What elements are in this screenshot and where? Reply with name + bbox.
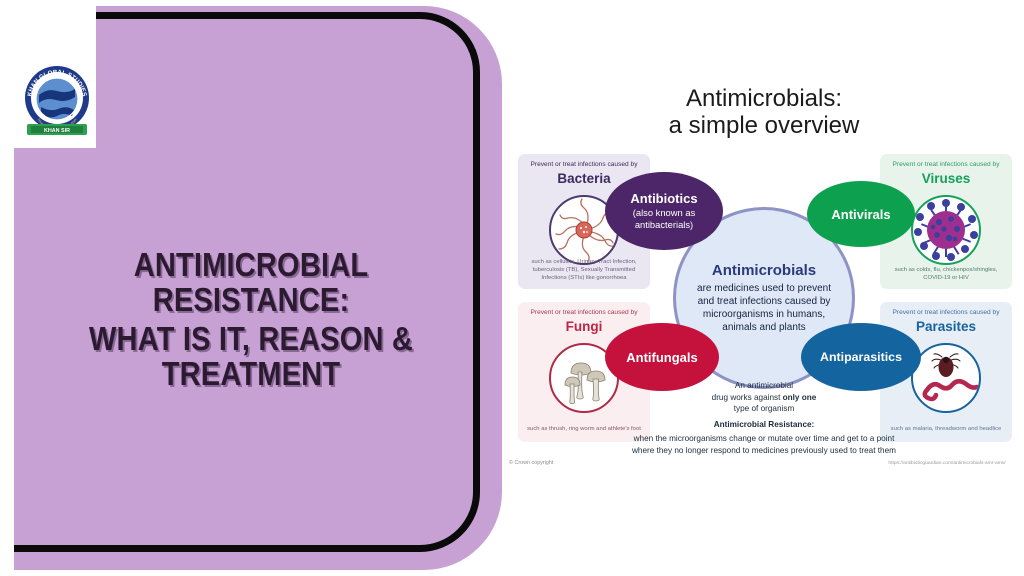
center-body: are medicines used to prevent and treat … bbox=[690, 282, 838, 335]
tick-and-worm-icon bbox=[913, 345, 979, 411]
antifungals-label: Antifungals bbox=[626, 350, 698, 365]
page-title-line-1: ANTIMICROBIAL RESISTANCE: bbox=[39, 248, 463, 318]
infographic-title: Antimicrobials: a simple overview bbox=[504, 85, 1024, 140]
panel-viruses-examples: such as colds, flu, chickenpox/shingles,… bbox=[884, 267, 1008, 283]
khan-global-studies-logo: KHAN GLOBAL STUDIES Your Global Learning… bbox=[19, 62, 95, 142]
drug-class-antibiotics[interactable]: Antibiotics (also known as antibacterial… bbox=[605, 172, 723, 250]
page-title: ANTIMICROBIAL RESISTANCE: WHAT IS IT, RE… bbox=[10, 248, 492, 392]
resistance-body: when the microorganisms change or mutate… bbox=[632, 433, 896, 456]
panel-viruses-organism: Viruses bbox=[880, 171, 1012, 187]
antiparasitics-label: Antiparasitics bbox=[820, 350, 902, 364]
antibiotics-label: Antibiotics bbox=[630, 192, 697, 206]
infographic-title-line-1: Antimicrobials: bbox=[504, 85, 1024, 112]
page-title-line-2: WHAT IS IT, REASON & TREATMENT bbox=[39, 322, 463, 392]
one-organism-note-b: drug works against bbox=[712, 393, 783, 402]
panel-bacteria-examples: such as cellulitis, Urinary Tract Infect… bbox=[522, 259, 646, 283]
left-title-panel: KHAN GLOBAL STUDIES Your Global Learning… bbox=[0, 0, 502, 576]
antimicrobials-infographic: Antimicrobials: a simple overview Preven… bbox=[504, 80, 1024, 480]
virus-illustration-circle bbox=[911, 195, 981, 265]
slide-canvas: KHAN GLOBAL STUDIES Your Global Learning… bbox=[0, 0, 1024, 576]
one-organism-note-bold: only one bbox=[783, 393, 817, 402]
one-organism-note-c: type of organism bbox=[734, 404, 795, 413]
panel-fungi-examples: such as thrush, ring worm and athlete's … bbox=[522, 426, 646, 434]
panel-fungi-lead: Prevent or treat infections caused by bbox=[518, 309, 650, 318]
virus-icon bbox=[913, 197, 979, 263]
center-heading: Antimicrobials bbox=[712, 262, 816, 279]
antibiotics-subtitle: (also known as antibacterials) bbox=[605, 207, 723, 230]
resistance-heading: Antimicrobial Resistance: bbox=[644, 420, 884, 429]
panel-viruses-lead: Prevent or treat infections caused by bbox=[880, 161, 1012, 170]
panel-parasites-examples: such as malaria, threadworm and headlice bbox=[884, 426, 1008, 434]
copyright-notice: © Crown copyright bbox=[509, 460, 553, 466]
panel-bacteria-lead: Prevent or treat infections caused by bbox=[518, 161, 650, 170]
one-organism-note-a: An antimicrobial bbox=[735, 381, 793, 390]
panel-parasites-lead: Prevent or treat infections caused by bbox=[880, 309, 1012, 318]
infographic-title-line-2: a simple overview bbox=[504, 112, 1024, 139]
parasite-illustration-circle bbox=[911, 343, 981, 413]
one-organism-note: An antimicrobial drug works against only… bbox=[679, 380, 849, 415]
source-url[interactable]: https://antibioticguardian.com/antimicro… bbox=[880, 461, 1014, 466]
antivirals-label: Antivirals bbox=[831, 207, 890, 222]
svg-text:KHAN SIR: KHAN SIR bbox=[44, 128, 70, 134]
drug-class-antivirals[interactable]: Antivirals bbox=[807, 181, 915, 247]
